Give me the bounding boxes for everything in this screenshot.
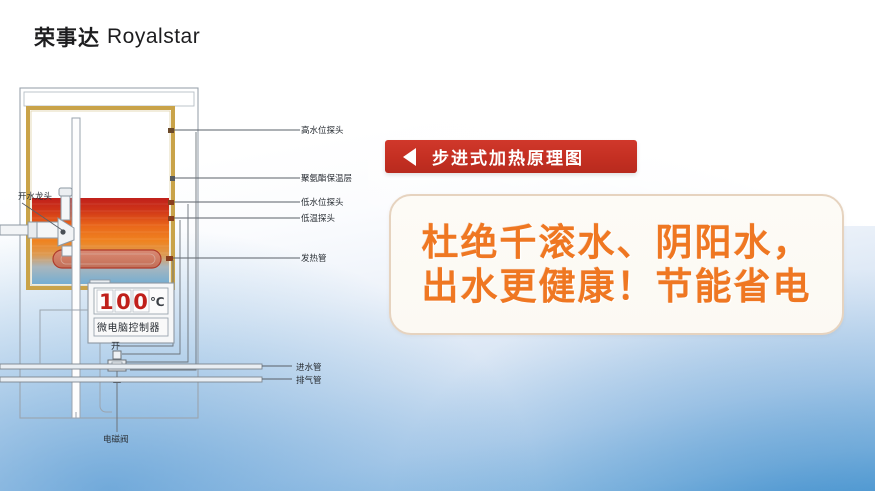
- banner-title: 步进式加热原理图: [432, 144, 584, 169]
- label-insulation-layer: 聚氨酯保温层: [301, 173, 352, 184]
- low-water-probe-marker: [168, 200, 174, 205]
- section-banner: 步进式加热原理图: [385, 140, 637, 173]
- label-heating-tube: 发热管: [301, 253, 327, 264]
- label-low-water-probe: 低水位探头: [301, 197, 344, 208]
- label-solenoid-valve: 电磁阀: [103, 434, 129, 445]
- controller-value: 100: [99, 290, 150, 314]
- standpipe: [72, 118, 80, 418]
- heating-principle-diagram: 开水龙头 高水位探头 聚氨酯保温层 低水位探头 低温探头 发热管: [0, 70, 400, 470]
- brand-logo-en: Royalstar: [107, 25, 200, 49]
- label-valve-state: 开: [111, 341, 120, 352]
- triangle-left-icon: [403, 148, 416, 166]
- brand-logo: 荣事达 Royalstar: [34, 22, 200, 52]
- label-faucet: 开水龙头: [18, 191, 53, 202]
- controller-caption: 微电脑控制器: [97, 321, 160, 334]
- pipe-lines: [0, 364, 292, 382]
- heating-tube-marker: [166, 256, 173, 261]
- cabinet-top-strip: [24, 92, 194, 106]
- label-exhaust-pipe: 排气管: [296, 375, 322, 386]
- label-high-water-probe: 高水位探头: [301, 125, 344, 136]
- low-temp-probe-marker: [168, 216, 174, 221]
- controller-unit: ℃: [150, 295, 165, 309]
- headline-line-1: 杜绝千滚水、阴阳水，: [422, 222, 812, 264]
- insulation-marker: [170, 176, 175, 181]
- headline-callout-box: 杜绝千滚水、阴阳水， 出水更健康！节能省电: [389, 194, 844, 335]
- brand-logo-cn: 荣事达: [34, 22, 100, 52]
- high-water-probe-marker: [168, 128, 174, 133]
- label-low-temp-probe: 低温探头: [301, 213, 336, 224]
- label-inlet-pipe: 进水管: [296, 362, 322, 373]
- solenoid-valve: [108, 351, 126, 432]
- label-dashes: [286, 130, 296, 258]
- background-white-overlay: [368, 0, 875, 226]
- headline-line-2: 出水更健康！节能省电: [422, 266, 812, 308]
- label-leader-lines: [173, 130, 300, 258]
